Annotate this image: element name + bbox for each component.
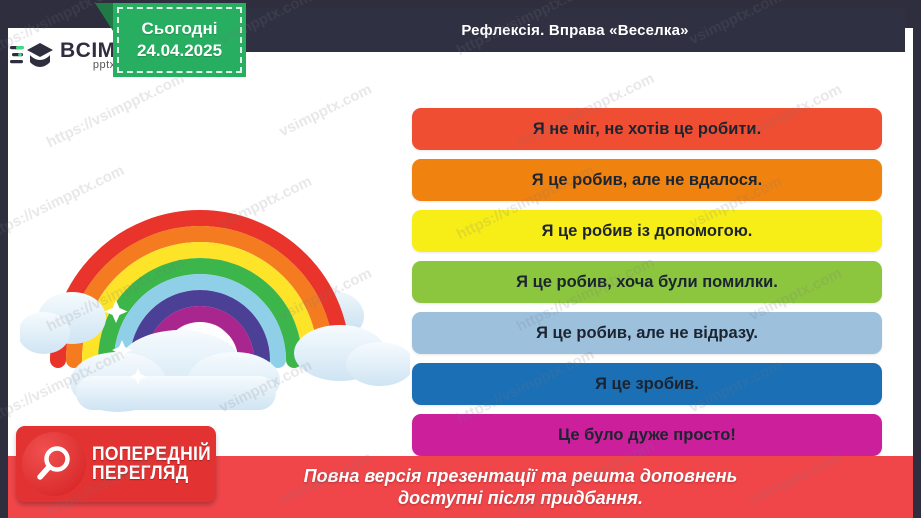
- page-title: Рефлексія. Вправа «Веселка»: [461, 22, 688, 39]
- brand-text: BCIM pptx: [60, 40, 116, 71]
- statement-list: Я не міг, не хотів це робити. Я це робив…: [412, 108, 882, 456]
- brand-logo[interactable]: BCIM pptx: [10, 38, 116, 72]
- today-badge-inner: Сьогодні 24.04.2025: [117, 7, 242, 73]
- statement-bar[interactable]: Я це робив, але не вдалося.: [412, 159, 882, 201]
- preview-line-1: ПОПЕРЕДНІЙ: [92, 445, 211, 464]
- today-label: Сьогодні: [142, 19, 218, 39]
- preview-button-labels: ПОПЕРЕДНІЙ ПЕРЕГЛЯД: [92, 445, 221, 483]
- statement-label: Я це робив, але не вдалося.: [532, 171, 762, 190]
- statement-label: Я це робив, але не відразу.: [536, 324, 758, 343]
- banner-line-2: доступні після придбання.: [398, 487, 643, 510]
- statement-bar[interactable]: Я це робив, хоча були помилки.: [412, 261, 882, 303]
- rainbow-illustration: [20, 128, 410, 418]
- preview-button[interactable]: ПОПЕРЕДНІЙ ПЕРЕГЛЯД: [16, 426, 216, 502]
- banner-line-1: Повна версія презентації та решта доповн…: [304, 465, 738, 488]
- statement-label: Це було дуже просто!: [558, 426, 736, 445]
- statement-label: Я не міг, не хотів це робити.: [533, 120, 761, 139]
- title-bar: Рефлексія. Вправа «Веселка»: [245, 8, 905, 52]
- statement-bar[interactable]: Я це робив із допомогою.: [412, 210, 882, 252]
- today-date: 24.04.2025: [137, 41, 222, 61]
- statement-label: Я це робив, хоча були помилки.: [516, 273, 778, 292]
- slide-canvas: Я не міг, не хотів це робити. Я це робив…: [8, 28, 913, 518]
- statement-bar[interactable]: Я не міг, не хотів це робити.: [412, 108, 882, 150]
- statement-bar[interactable]: Це було дуже просто!: [412, 414, 882, 456]
- magnifier-icon: [22, 432, 86, 496]
- statement-bar[interactable]: Я це робив, але не відразу.: [412, 312, 882, 354]
- today-badge: Сьогодні 24.04.2025: [113, 3, 246, 77]
- slide-frame: Я не міг, не хотів це робити. Я це робив…: [0, 0, 921, 518]
- statement-bar[interactable]: Я це зробив.: [412, 363, 882, 405]
- graduation-cap-icon: [10, 38, 54, 72]
- preview-line-2: ПЕРЕГЛЯД: [92, 464, 211, 483]
- brand-name: BCIM: [60, 40, 116, 61]
- statement-label: Я це зробив.: [595, 375, 699, 394]
- statement-label: Я це робив із допомогою.: [542, 222, 753, 241]
